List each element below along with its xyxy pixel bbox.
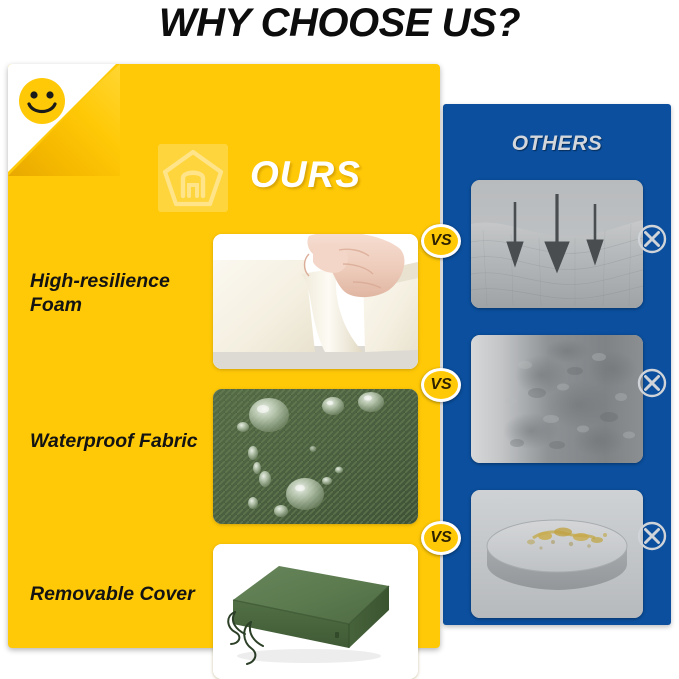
ours-image-hand-pressing-foam (213, 234, 418, 369)
others-image-stained-cushion (471, 490, 643, 618)
ours-image-waterproof-fabric (213, 389, 418, 524)
feature-label-waterproof-fabric: Waterproof Fabric (30, 429, 215, 453)
circle-x-icon-row-0 (637, 224, 667, 254)
ours-panel-title: OURS (250, 154, 361, 196)
home-pentagon-armchair-icon (158, 144, 228, 212)
green-seat-cushion-with-ties-icon (213, 544, 418, 679)
sagging-fabric-with-down-arrows-icon (471, 180, 643, 308)
others-panel-title: OTHERS (443, 132, 671, 156)
others-image-sagging-fabric (471, 180, 643, 308)
circle-x-icon-row-1 (637, 368, 667, 398)
green-fabric-water-droplets-icon (213, 389, 418, 524)
vs-badge-row-0: VS (421, 224, 461, 258)
circle-x-icon-row-2 (637, 521, 667, 551)
soaked-gray-fabric-icon (471, 335, 643, 463)
others-image-soaked-fabric (471, 335, 643, 463)
smiley-face-icon (18, 77, 66, 125)
ours-image-green-cushion (213, 544, 418, 679)
ours-panel: OURS High-resilience Foam Waterproof Fab… (8, 64, 440, 648)
stained-gray-round-cushion-icon (471, 490, 643, 618)
page-title: WHY CHOOSE US? (0, 0, 679, 46)
feature-label-high-resilience-foam: High-resilience Foam (30, 269, 215, 317)
vs-badge-row-2: VS (421, 521, 461, 555)
feature-label-removable-cover: Removable Cover (30, 582, 215, 606)
vs-badge-row-1: VS (421, 368, 461, 402)
hand-pressing-foam-icon (213, 234, 418, 369)
